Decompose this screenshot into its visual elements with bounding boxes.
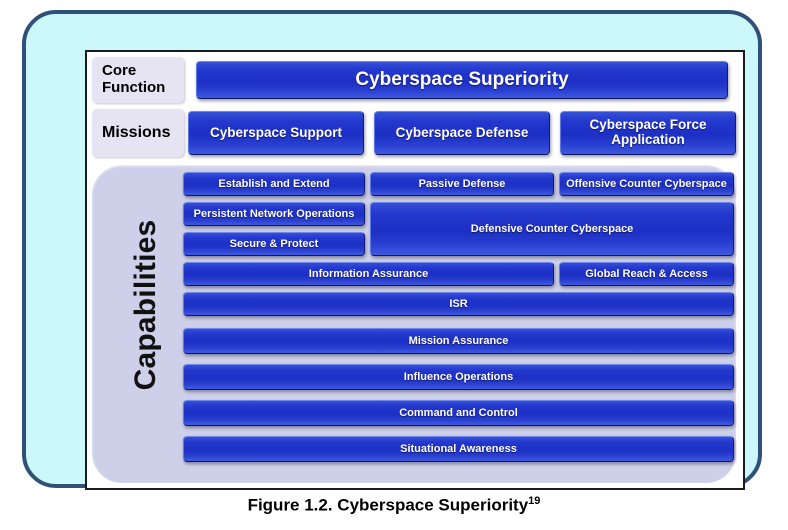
capability-bar-command-and-control: Command and Control xyxy=(183,400,734,426)
mission-box-cyberspace-defense: Cyberspace Defense xyxy=(374,111,550,155)
capability-bar-global-reach-and-access: Global Reach & Access xyxy=(559,262,734,286)
capability-bar-defensive-counter-cyberspace: Defensive Counter Cyberspace xyxy=(370,202,734,256)
capability-grid: Establish and Extend Passive Defense Off… xyxy=(181,165,736,483)
capabilities-vertical-label: Capabilities xyxy=(126,205,166,405)
capability-bar-information-assurance: Information Assurance xyxy=(183,262,554,286)
missions-label-text: Missions xyxy=(102,124,170,142)
capability-bar-secure-and-protect: Secure & Protect xyxy=(183,232,365,256)
figure-outer-frame: Core Function Cyberspace Superiority Mis… xyxy=(22,10,762,488)
capability-bar-influence-operations: Influence Operations xyxy=(183,364,734,390)
core-function-label-line1: Core xyxy=(102,62,136,79)
core-function-label-line2: Function xyxy=(102,79,165,96)
core-function-bar: Cyberspace Superiority xyxy=(196,61,728,99)
row-label-core-function: Core Function xyxy=(92,57,184,103)
diagram-panel: Core Function Cyberspace Superiority Mis… xyxy=(85,50,745,490)
core-function-label-text: Core Function xyxy=(102,63,165,97)
capabilities-panel: Capabilities Establish and Extend Passiv… xyxy=(92,165,736,483)
capability-bar-establish-and-extend: Establish and Extend xyxy=(183,172,365,196)
figure-caption-footnote: 19 xyxy=(528,495,540,507)
mission-box-cyberspace-force-application: Cyberspace Force Application xyxy=(560,111,736,155)
missions-row: Cyberspace Support Cyberspace Defense Cy… xyxy=(188,109,736,157)
capability-bar-isr: ISR xyxy=(183,292,734,316)
figure-caption-text: Figure 1.2. Cyberspace Superiority xyxy=(248,496,529,515)
capability-bar-offensive-counter-cyberspace: Offensive Counter Cyberspace xyxy=(559,172,734,196)
figure-caption: Figure 1.2. Cyberspace Superiority19 xyxy=(0,495,788,516)
row-label-missions: Missions xyxy=(92,109,184,157)
capability-bar-persistent-network-operations: Persistent Network Operations xyxy=(183,202,365,226)
mission-box-cyberspace-support: Cyberspace Support xyxy=(188,111,364,155)
capability-bar-situational-awareness: Situational Awareness xyxy=(183,436,734,462)
capability-bar-mission-assurance: Mission Assurance xyxy=(183,328,734,354)
capability-bar-passive-defense: Passive Defense xyxy=(370,172,554,196)
